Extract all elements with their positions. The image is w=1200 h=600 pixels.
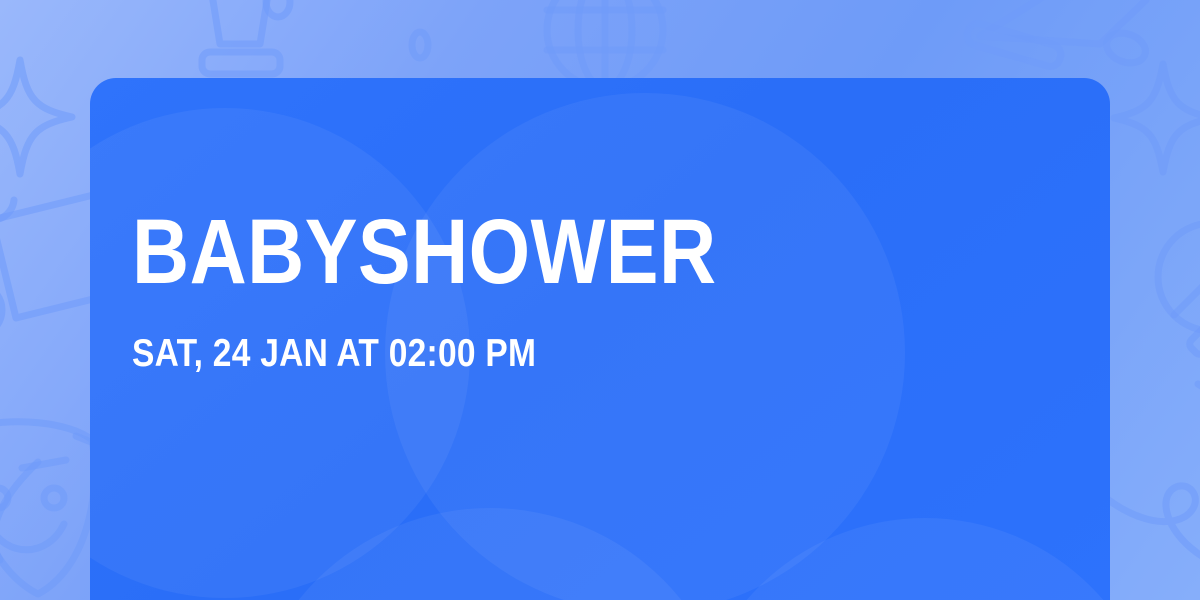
confetti-icon [400, 20, 440, 70]
event-card[interactable]: BABYSHOWER SAT, 24 JAN AT 02:00 PM [90, 78, 1110, 600]
invitation-canvas: BABYSHOWER SAT, 24 JAN AT 02:00 PM [0, 0, 1200, 600]
event-title: BABYSHOWER [132, 78, 717, 298]
sparkle-icon [1108, 58, 1200, 178]
event-datetime: SAT, 24 JAN AT 02:00 PM [132, 298, 717, 373]
sparkle-icon [0, 52, 80, 182]
lantern-icon [1150, 215, 1200, 405]
event-details: BABYSHOWER SAT, 24 JAN AT 02:00 PM [132, 78, 812, 600]
